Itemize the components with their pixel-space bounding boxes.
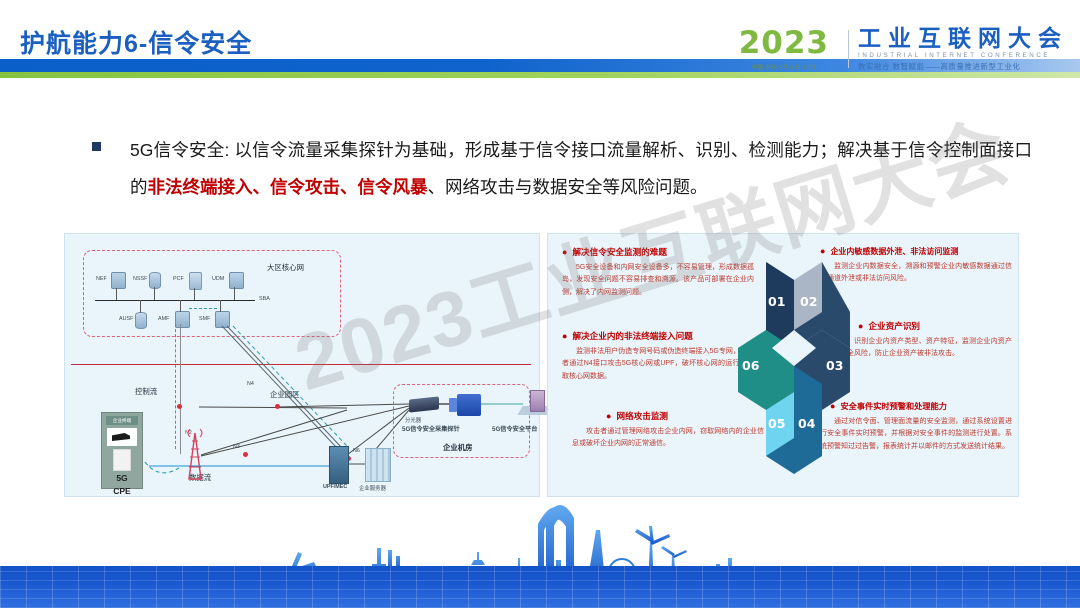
capability-body-06: 监测非法用户伪造专网号码或伪造终端接入5G专网，攻击者通过N4接口攻击5G核心网… bbox=[562, 346, 754, 383]
link-dot-n2 bbox=[177, 404, 182, 409]
capability-bullet-icon: ● bbox=[562, 331, 567, 341]
link-dot-n3 bbox=[243, 452, 248, 457]
pinwheel-number-03: 03 bbox=[826, 358, 843, 373]
footer-skyline bbox=[0, 488, 1080, 608]
capability-bullet-icon: ● bbox=[606, 411, 611, 421]
capability-bullet-icon: ● bbox=[858, 321, 863, 331]
pinwheel-number-05: 05 bbox=[768, 416, 785, 431]
capability-body-01: 5G安全设备和内网安全设备多，不容易管理，形成数据孤岛，发现安全问题不容易排查和… bbox=[562, 262, 754, 299]
bullet-paragraph: 5G信令安全: 以信令流量采集探针为基础，形成基于信令接口流量解析、识别、检测能… bbox=[92, 132, 1032, 206]
page-title: 护航能力6-信令安全 bbox=[20, 24, 252, 60]
capability-title-text-03: 企业资产识别 bbox=[868, 321, 920, 331]
pinwheel-graphic: 01 02 03 04 05 06 bbox=[734, 252, 854, 480]
machine-room-label: 企业机房 bbox=[443, 442, 473, 453]
platform-server-shape bbox=[530, 390, 545, 412]
cpe-name-line1: 5G bbox=[102, 473, 142, 484]
cpe-device-icon bbox=[113, 449, 131, 471]
link-dot-n4 bbox=[275, 404, 280, 409]
interface-label-n4: N4 bbox=[247, 381, 254, 387]
conference-logo: 2023 中国·苏州 8月14日-16日 工业互联网大会 INDUSTRIAL … bbox=[739, 26, 1068, 72]
capability-title-01: ●解决信令安全监测的难题 bbox=[562, 246, 754, 258]
capability-title-06: ●解决企业内的非法终端接入问题 bbox=[562, 330, 754, 342]
capability-title-text-01: 解决信令安全监测的难题 bbox=[572, 247, 667, 257]
capability-item-06: ●解决企业内的非法终端接入问题 监测非法用户伪造专网号码或伪造终端接入5G专网，… bbox=[562, 330, 754, 383]
upf-mec-icon bbox=[329, 446, 349, 484]
header-white-gap bbox=[0, 78, 1080, 81]
network-architecture-panel: 大区核心网 SBA NEF NSSF PCF UDM AUSF AMF SMF … bbox=[64, 233, 540, 497]
bullet-segment-3: 、网络攻击与数据安全等风险问题。 bbox=[428, 177, 708, 197]
enterprise-server-icon bbox=[365, 448, 391, 482]
logo-divider bbox=[848, 30, 849, 68]
capability-item-03: ●企业资产识别 识别企业内资产类型、资产特征，监测企业内资产安全风险，防止企业资… bbox=[840, 320, 1012, 361]
base-station-tower-icon bbox=[181, 429, 209, 481]
signaling-probe-label: 5G信令安全采集探针 bbox=[402, 424, 460, 433]
logo-text-block: 工业互联网大会 INDUSTRIAL INTERNET CONFERENCE 数… bbox=[858, 26, 1068, 72]
pinwheel-number-04: 04 bbox=[798, 416, 815, 431]
interface-label-n6: N6 bbox=[353, 448, 360, 454]
bullet-segment-highlight: 非法终端接入、信令攻击、信令风暴 bbox=[148, 177, 428, 197]
optical-splitter-label: 分光器 bbox=[405, 416, 421, 424]
footer-floor-grid bbox=[0, 566, 1080, 608]
capability-item-01: ●解决信令安全监测的难题 5G安全设备和内网安全设备多，不容易管理，形成数据孤岛… bbox=[562, 246, 754, 299]
signaling-probe-icon bbox=[457, 394, 481, 416]
bullet-square-icon bbox=[92, 142, 101, 151]
camera-icon bbox=[107, 428, 137, 446]
logo-conference-cn: 工业互联网大会 bbox=[858, 26, 1068, 50]
logo-slogan: 数实融合 数智赋能——高质量推进新型工业化 bbox=[858, 61, 1068, 72]
capability-title-text-04: 安全事件实时预警和处理能力 bbox=[840, 402, 946, 411]
logo-conference-en: INDUSTRIAL INTERNET CONFERENCE bbox=[858, 52, 1068, 59]
capability-bullet-icon: ● bbox=[562, 247, 567, 257]
pinwheel-number-02: 02 bbox=[800, 294, 817, 309]
capability-body-03: 识别企业内资产类型、资产特征，监测企业内资产安全风险，防止企业资产被非法攻击。 bbox=[840, 336, 1012, 361]
pinwheel-number-06: 06 bbox=[742, 358, 759, 373]
slide-root: 护航能力6-信令安全 2023 中国·苏州 8月14日-16日 工业互联网大会 … bbox=[0, 0, 1080, 608]
enterprise-terminal-block: 企业终端 5G CPE bbox=[101, 412, 143, 489]
logo-year-subtitle: 中国·苏州 8月14日-16日 bbox=[739, 63, 829, 71]
capability-title-03: ●企业资产识别 bbox=[840, 320, 1012, 332]
capability-title-text-05: 网络攻击监测 bbox=[616, 411, 668, 421]
interface-label-n3: N3 bbox=[233, 444, 240, 450]
pinwheel-number-01: 01 bbox=[768, 294, 785, 309]
logo-year-text: 2023 bbox=[739, 28, 829, 59]
logo-year-block: 2023 中国·苏州 8月14日-16日 bbox=[739, 28, 839, 71]
enterprise-terminal-label: 企业终端 bbox=[106, 416, 138, 425]
capabilities-panel: ●解决信令安全监测的难题 5G安全设备和内网安全设备多，不容易管理，形成数据孤岛… bbox=[547, 233, 1019, 497]
signaling-platform-label: 5G信令安全平台 bbox=[492, 424, 537, 433]
capability-title-text-06: 解决企业内的非法终端接入问题 bbox=[572, 331, 692, 341]
bullet-text: 5G信令安全: 以信令流量采集探针为基础，形成基于信令接口流量解析、识别、检测能… bbox=[130, 132, 1032, 206]
